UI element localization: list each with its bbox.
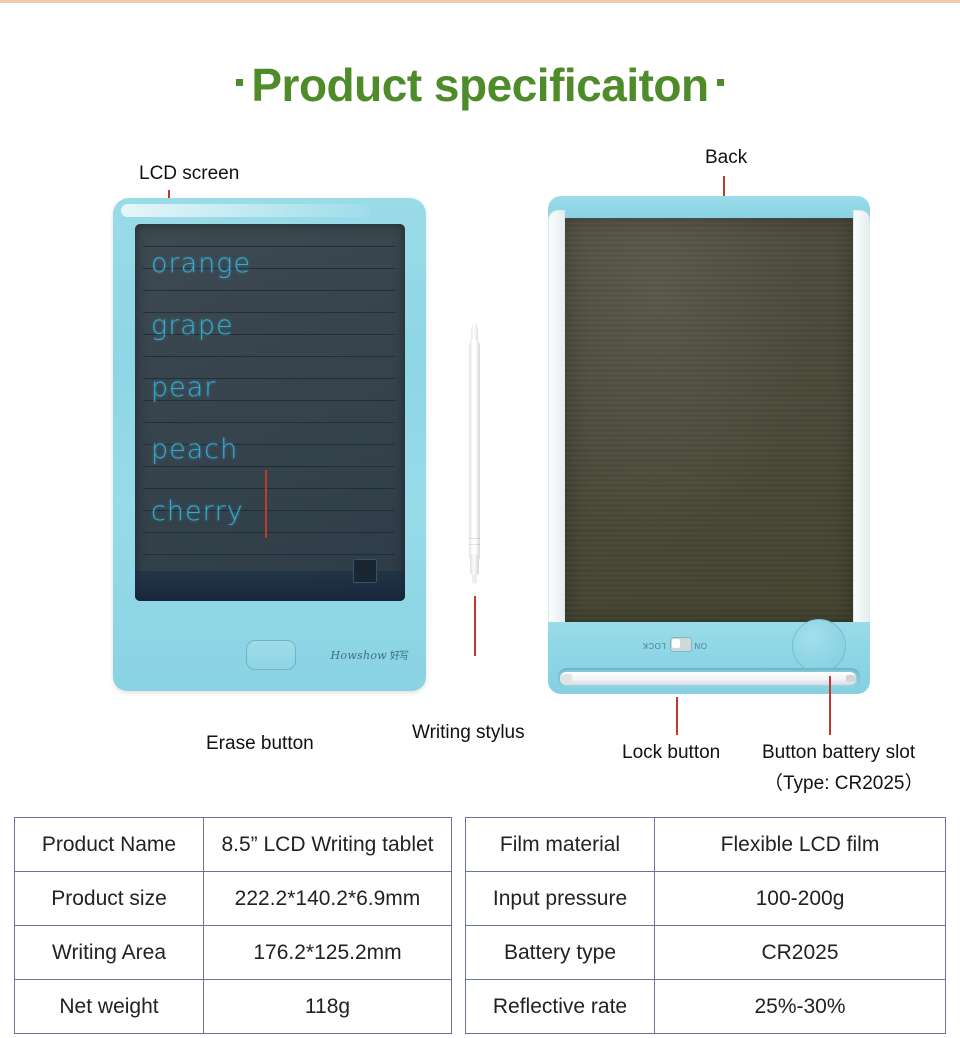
screen-ruled-lines <box>135 224 405 601</box>
spec-key: Film material <box>466 818 655 872</box>
stylus-in-groove <box>560 672 856 685</box>
leader-line-stylus <box>474 596 476 656</box>
spec-value: 100-200g <box>655 872 946 926</box>
page-title: Product specificaiton <box>0 58 960 112</box>
spec-key: Writing Area <box>15 926 204 980</box>
spec-key: Product size <box>15 872 204 926</box>
callout-lock-button: Lock button <box>622 742 720 764</box>
back-panel <box>565 218 853 624</box>
spec-value: 222.2*140.2*6.9mm <box>204 872 452 926</box>
spec-value: 8.5” LCD Writing tablet <box>204 818 452 872</box>
stylus-end-nub <box>472 575 477 584</box>
callout-battery-slot: Button battery slot <box>762 742 915 764</box>
leader-line-erase-button <box>265 470 267 538</box>
tablet-front-view: orange grape pear peach cherry Howshow好写 <box>113 198 426 691</box>
brand-logo: Howshow好写 <box>331 647 409 662</box>
lock-switch-label-on: ON <box>694 641 707 650</box>
callout-back: Back <box>705 147 747 169</box>
back-side-rail-right <box>853 210 870 630</box>
table-row: Reflective rate 25%-30% <box>466 980 946 1034</box>
stylus-body <box>469 340 480 562</box>
stylus-ring-2 <box>469 544 480 545</box>
lock-switch-label-lock: LOCK <box>642 641 666 650</box>
title-dot-left <box>236 79 243 86</box>
stylus-end-cap <box>470 554 479 576</box>
erase-button[interactable] <box>246 640 296 670</box>
spec-value: 118g <box>204 980 452 1034</box>
callout-battery-type: （Type: CR2025） <box>764 768 923 795</box>
spec-key: Net weight <box>15 980 204 1034</box>
lock-button[interactable] <box>670 637 692 652</box>
specification-tables: Product Name 8.5” LCD Writing tablet Pro… <box>0 817 960 1034</box>
brand-logo-text: Howshow <box>331 649 388 662</box>
tablet-back-view: LOCK ON <box>548 196 870 694</box>
spec-value: CR2025 <box>655 926 946 980</box>
handwriting-line-2: grape <box>151 310 234 341</box>
callout-lcd-screen: LCD screen <box>139 163 239 185</box>
table-row: Input pressure 100-200g <box>466 872 946 926</box>
lcd-screen: orange grape pear peach cherry <box>135 224 405 601</box>
table-row: Product size 222.2*140.2*6.9mm <box>15 872 452 926</box>
screen-sensor-icon <box>353 559 377 583</box>
page-title-text: Product specificaiton <box>251 58 708 112</box>
handwriting-line-5: cherry <box>151 496 244 527</box>
spec-value: Flexible LCD film <box>655 818 946 872</box>
leader-line-battery-slot <box>829 676 831 735</box>
back-side-rail-left <box>548 210 565 630</box>
table-row: Net weight 118g <box>15 980 452 1034</box>
handwriting-line-4: peach <box>151 434 238 465</box>
handwriting-line-1: orange <box>151 248 251 279</box>
top-accent-rule <box>0 0 960 3</box>
table-row: Writing Area 176.2*125.2mm <box>15 926 452 980</box>
table-row: Battery type CR2025 <box>466 926 946 980</box>
callout-writing-stylus: Writing stylus <box>412 722 525 744</box>
brand-logo-cn-text: 好写 <box>390 647 408 662</box>
stylus-ring-1 <box>469 538 480 539</box>
spec-table-left: Product Name 8.5” LCD Writing tablet Pro… <box>14 817 452 1034</box>
table-row: Product Name 8.5” LCD Writing tablet <box>15 818 452 872</box>
handwriting-line-3: pear <box>151 372 216 403</box>
title-dot-right <box>717 79 724 86</box>
spec-key: Reflective rate <box>466 980 655 1034</box>
spec-value: 176.2*125.2mm <box>204 926 452 980</box>
table-row: Film material Flexible LCD film <box>466 818 946 872</box>
back-bezel-chin: LOCK ON <box>548 622 870 694</box>
spec-key: Input pressure <box>466 872 655 926</box>
writing-stylus <box>467 322 482 584</box>
leader-line-lock-button <box>676 697 678 735</box>
callout-erase-button: Erase button <box>206 733 314 755</box>
spec-value: 25%-30% <box>655 980 946 1034</box>
spec-key: Product Name <box>15 818 204 872</box>
spec-table-right: Film material Flexible LCD film Input pr… <box>465 817 946 1034</box>
spec-key: Battery type <box>466 926 655 980</box>
button-battery-slot[interactable] <box>792 619 846 673</box>
